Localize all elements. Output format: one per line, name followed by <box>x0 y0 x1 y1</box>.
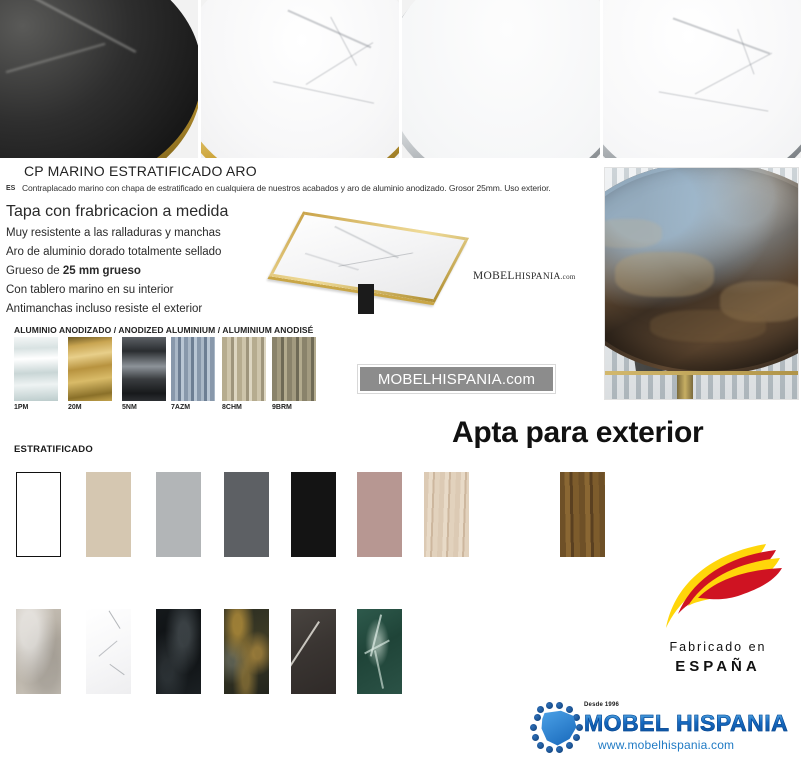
mobel-hispania-logo[interactable]: Desde 1996 MOBEL HISPANIA www.mobelhispa… <box>528 700 790 760</box>
photo-tabletop <box>604 167 799 375</box>
banner-photo-silver-white-marble <box>603 0 801 158</box>
aluminium-swatch[interactable]: 8CHM <box>222 337 266 401</box>
made-in-spain-line-2: ESPAÑA <box>648 658 788 675</box>
thickness-value: 25 mm grueso <box>63 265 141 277</box>
product-title: CP MARINO ESTRATIFICADO ARO <box>24 163 257 179</box>
brand-watermark-box: MOBELHISPANIA.com <box>358 365 555 393</box>
laminate-swatch[interactable]: F2253BLACK MAT <box>291 472 336 557</box>
made-in-spain-line-1: Fabricado en <box>648 640 788 654</box>
spain-flag-brush-icon <box>648 540 788 635</box>
aluminium-swatch-code: 9BRM <box>272 404 292 411</box>
render-watermark: MOBELHISPANIA.com <box>473 270 576 282</box>
aluminium-swatch-code: 7AZM <box>171 404 190 411</box>
laminate-swatch[interactable]: F9484BEAMWOOD PGN <box>560 472 605 557</box>
aluminium-swatch-code: 20M <box>68 404 82 411</box>
laminate-swatch[interactable]: F8238BLUSH MAT <box>357 472 402 557</box>
banner-photo-silver-white <box>402 0 600 158</box>
logo-brand-name: MOBEL HISPANIA <box>584 710 788 737</box>
aluminium-swatch[interactable]: 20M <box>68 337 112 401</box>
feature-line-5: Antimanchas incluso resiste el exterior <box>6 303 202 315</box>
laminate-swatch[interactable]: F2273SERINGA MAT <box>86 472 131 557</box>
logo-since-text: Desde 1996 <box>584 702 619 708</box>
render-table-column <box>358 284 374 314</box>
laminate-swatch[interactable]: F1517S.CHESNUT <box>424 472 469 557</box>
aluminium-swatch-code: 8CHM <box>222 404 242 411</box>
banner-photo-gold-black-marble <box>0 0 198 158</box>
feature-line-3: Grueso de 25 mm grueso <box>6 265 141 277</box>
banner-photo-gold-white-marble <box>201 0 399 158</box>
laminate-swatch[interactable]: F8830CONCRETE AHD <box>16 609 61 694</box>
laminate-swatch[interactable]: F9483FERO GRAFI. VITA <box>291 609 336 694</box>
feature-line-1: Muy resistente a las ralladuras y mancha… <box>6 227 221 239</box>
laminate-swatch[interactable]: F7912STORM MAT <box>224 472 269 557</box>
aluminium-swatch[interactable]: 1PM <box>14 337 58 401</box>
aluminium-swatch[interactable]: 7AZM <box>171 337 215 401</box>
laminate-swatch[interactable]: F3476SEQUOIA MAT/AB <box>156 609 201 694</box>
laminate-section-heading: ESTRATIFICADO <box>14 444 93 455</box>
logo-website-url[interactable]: www.mobelhispania.com <box>598 738 734 752</box>
product-description: Contraplacado marino con chapa de estrat… <box>22 183 551 193</box>
product-photo-round-marble-table <box>604 167 799 400</box>
laminate-swatch[interactable]: F7927FOLKESTONE MT <box>156 472 201 557</box>
aluminium-swatch-code: 5NM <box>122 404 137 411</box>
brand-watermark-text: MOBELHISPANIA.com <box>378 371 535 388</box>
product-render-square-table: MOBELHISPANIA.com <box>258 208 503 308</box>
laminate-swatch[interactable]: F8853RURAL OAK PGN <box>492 472 537 557</box>
aluminium-swatch-code: 1PM <box>14 404 28 411</box>
top-image-banner <box>0 0 801 158</box>
aluminium-swatch[interactable]: 9BRM <box>272 337 316 401</box>
feature-line-4: Con tablero marino en su interior <box>6 284 173 296</box>
exterior-claim: Apta para exterior <box>452 416 703 450</box>
made-in-spain-badge: Fabricado en ESPAÑA <box>648 540 788 685</box>
aluminium-section-heading: ALUMINIO ANODIZADO / ANODIZED ALUMINIUM … <box>14 325 313 335</box>
aluminium-swatch-row: 1PM 20M 5NM 7AZM 8CHM 9BRM <box>14 337 324 421</box>
language-tag: ES <box>6 185 15 192</box>
laminate-swatch[interactable]: F3091C.WHITE MAT <box>16 472 61 557</box>
laminate-swatch[interactable]: L6019LARISSA VERDE LUCIDO <box>357 609 402 694</box>
feature-heading: Tapa con frabricacion a medida <box>6 203 228 221</box>
thickness-label: Grueso de <box>6 265 60 277</box>
feature-line-2: Aro de aluminio dorado totalmente sellad… <box>6 246 221 258</box>
aluminium-swatch[interactable]: 5NM <box>122 337 166 401</box>
laminate-swatch[interactable]: F3460CALACATTA AB <box>86 609 131 694</box>
laminate-swatch[interactable]: F3467BLUE STORM AB <box>224 609 269 694</box>
